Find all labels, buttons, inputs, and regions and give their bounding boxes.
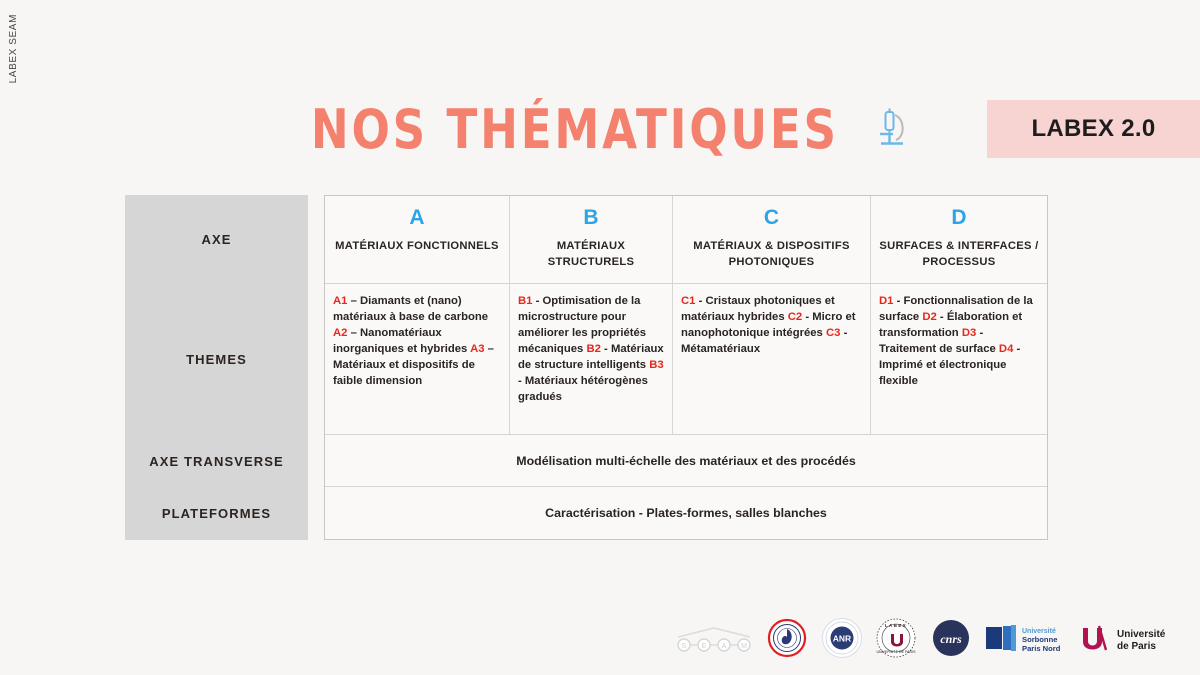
column-header-d: D SURFACES & INTERFACES / PROCESSUS (871, 196, 1047, 283)
themes-cell-b: B1 - Optimisation de la microstructure p… (510, 283, 673, 434)
theme-code: C1 (681, 295, 695, 307)
universite-de-paris-logo: Université de Paris (1072, 620, 1182, 656)
svg-text:LABEX: LABEX (885, 623, 907, 628)
theme-text: – Nanomatériaux inorganiques et hybrides (333, 327, 470, 355)
svg-text:A: A (722, 643, 727, 650)
thematics-table: A MATÉRIAUX FONCTIONNELS B MATÉRIAUX STR… (324, 195, 1048, 540)
theme-code: B2 (586, 343, 600, 355)
svg-text:S: S (682, 643, 687, 650)
labex-seal-logo: LABEX UNIVERSITÉ DE PARIS (870, 617, 922, 659)
row-label-plateformes: PLATEFORMES (125, 487, 308, 540)
axe-transverse-row: Modélisation multi-échelle des matériaux… (325, 434, 1047, 487)
svg-text:UNIVERSITÉ DE PARIS: UNIVERSITÉ DE PARIS (876, 649, 916, 654)
footer-logos: S E A M ANR LABEX UNIVERSITÉ DE PARIS (668, 612, 1188, 664)
theme-code: D2 (922, 311, 936, 323)
universite-de-paris-seal-logo (760, 618, 814, 658)
column-header-a: A MATÉRIAUX FONCTIONNELS (325, 196, 510, 283)
universite-sorbonne-paris-nord-logo: Université Sorbonne Paris Nord (980, 620, 1072, 656)
svg-text:ANR: ANR (833, 634, 851, 644)
microscope-icon (875, 107, 909, 154)
cnrs-logo: cnrs (922, 618, 980, 658)
theme-code: B1 (518, 295, 532, 307)
theme-code: D3 (962, 327, 976, 339)
theme-code: D1 (879, 295, 893, 307)
svg-text:Sorbonne: Sorbonne (1022, 635, 1057, 644)
row-label-panel: AXE THEMES AXE TRANSVERSE PLATEFORMES (125, 195, 308, 540)
svg-text:Université: Université (1022, 628, 1056, 635)
row-label-axe-transverse: AXE TRANSVERSE (125, 435, 308, 487)
theme-code: A1 (333, 295, 347, 307)
theme-code: C3 (826, 327, 840, 339)
column-title-a: MATÉRIAUX FONCTIONNELS (335, 238, 499, 254)
column-letter-a: A (409, 206, 424, 229)
theme-code: D4 (999, 343, 1013, 355)
svg-text:E: E (702, 643, 707, 650)
seam-logo: S E A M (668, 624, 760, 652)
table-themes-row: A1 – Diamants et (nano) matériaux à base… (325, 283, 1047, 434)
svg-text:Université: Université (1117, 629, 1166, 640)
svg-text:cnrs: cnrs (940, 632, 962, 646)
themes-cell-d: D1 - Fonctionnalisation de la surface D2… (871, 283, 1047, 434)
theme-text: - Matériaux hétérogènes gradués (518, 375, 648, 403)
themes-cell-c: C1 - Cristaux photoniques et matériaux h… (673, 283, 871, 434)
row-label-axe: AXE (125, 195, 308, 283)
svg-text:de Paris: de Paris (1117, 641, 1156, 652)
side-label: LABEX SEAM (2, 14, 24, 134)
svg-text:M: M (741, 643, 747, 650)
anr-logo: ANR (814, 617, 870, 659)
labex-badge: LABEX 2.0 (987, 100, 1200, 158)
side-label-text: LABEX SEAM (8, 14, 19, 83)
page-title-text: NOS THÉMATIQUES (311, 103, 839, 157)
column-header-b: B MATÉRIAUX STRUCTURELS (510, 196, 673, 283)
svg-text:Paris Nord: Paris Nord (1022, 644, 1061, 653)
theme-code: C2 (788, 311, 802, 323)
theme-text: – Diamants et (nano) matériaux à base de… (333, 295, 488, 323)
theme-code: B3 (649, 359, 663, 371)
column-letter-b: B (583, 206, 598, 229)
theme-code: A2 (333, 327, 347, 339)
table-header-row: A MATÉRIAUX FONCTIONNELS B MATÉRIAUX STR… (325, 196, 1047, 283)
themes-cell-a: A1 – Diamants et (nano) matériaux à base… (325, 283, 510, 434)
column-title-c: MATÉRIAUX & DISPOSITIFS PHOTONIQUES (681, 238, 862, 270)
column-letter-c: C (764, 206, 779, 229)
labex-badge-label: LABEX 2.0 (1031, 115, 1155, 143)
column-title-b: MATÉRIAUX STRUCTURELS (518, 238, 664, 270)
column-header-c: C MATÉRIAUX & DISPOSITIFS PHOTONIQUES (673, 196, 871, 283)
theme-code: A3 (470, 343, 484, 355)
row-label-themes: THEMES (125, 283, 308, 435)
column-letter-d: D (951, 206, 966, 229)
plateformes-row: Caractérisation - Plates-formes, salles … (325, 486, 1047, 539)
column-title-d: SURFACES & INTERFACES / PROCESSUS (879, 238, 1039, 270)
